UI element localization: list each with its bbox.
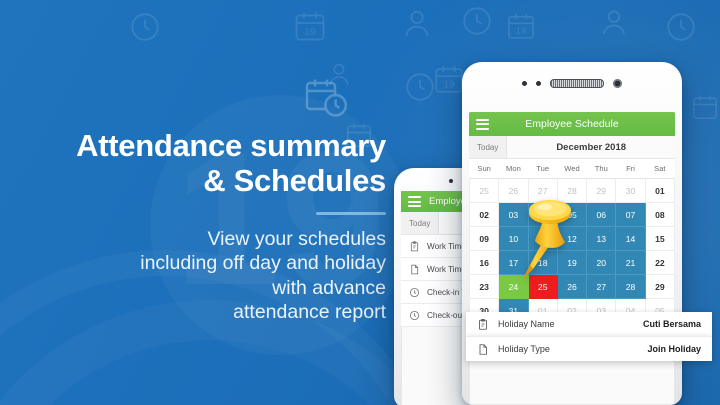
calendar-day-cell[interactable]: 14 (616, 227, 645, 251)
holiday-type-label: Holiday Type (498, 344, 550, 354)
calendar-day-cell[interactable]: 26 (557, 275, 586, 299)
calendar-day-cell[interactable]: 26 (499, 179, 528, 203)
calendar-weekday-mon: Mon (499, 159, 528, 179)
person-icon (325, 60, 353, 88)
holiday-type-row[interactable]: Holiday Type Join Holiday (466, 336, 712, 361)
phone-front-appbar: Employee Schedule (469, 112, 675, 136)
calendar-day-cell[interactable]: 12 (557, 227, 586, 251)
calendar-day-cell[interactable]: 27 (587, 275, 616, 299)
calendar-day-cell[interactable]: 06 (587, 203, 616, 227)
calendar-weekday-tue: Tue (528, 159, 557, 179)
clock-icon (460, 4, 494, 38)
person-icon (400, 6, 434, 40)
calendar-day-cell[interactable]: 24 (499, 275, 528, 299)
calendar-day-cell[interactable]: 10 (499, 227, 528, 251)
headline-line-2: & Schedules (30, 163, 386, 198)
holiday-name-row[interactable]: Holiday Name Cuti Bersama (466, 312, 712, 336)
sensor-dot-icon (522, 81, 527, 86)
calendar-day-cell[interactable]: 28 (616, 275, 645, 299)
calendar-19-icon: 19 (505, 10, 537, 42)
calendar-weekday-header: SunMonTueWedThuFriSat (470, 159, 675, 179)
calendar-day-cell[interactable]: 19 (557, 251, 586, 275)
calendar-day-cell[interactable]: 09 (470, 227, 499, 251)
month-label: December 2018 (507, 142, 675, 153)
headline-line-1: Attendance summary (30, 128, 386, 163)
holiday-name-label: Holiday Name (498, 319, 555, 329)
phone-front-subbar: Today December 2018 (469, 136, 675, 159)
calendar-weekday-sat: Sat (645, 159, 674, 179)
calendar-day-cell[interactable]: 25 (528, 275, 557, 299)
clipboard-icon (409, 241, 420, 252)
divider-rule (316, 212, 386, 215)
calendar-clock-icon (302, 74, 350, 122)
calendar-day-cell[interactable]: 29 (587, 179, 616, 203)
calendar-day-cell[interactable]: 15 (645, 227, 674, 251)
calendar-19-icon: 19 (292, 8, 328, 44)
clock-icon (664, 10, 698, 44)
phone-front-screen: Employee Schedule Today December 2018 Su… (469, 112, 675, 405)
calendar-day-cell[interactable]: 25 (470, 179, 499, 203)
clock-icon (128, 10, 162, 44)
front-camera-icon (613, 79, 622, 88)
calendar-day-cell[interactable]: 23 (470, 275, 499, 299)
calendar-week-row: 25262728293001 (470, 179, 675, 203)
calendar-day-cell[interactable]: 28 (557, 179, 586, 203)
calendar-19-icon: 19 (432, 62, 466, 96)
calendar-day-cell[interactable]: 21 (616, 251, 645, 275)
holiday-type-value: Join Holiday (647, 344, 701, 354)
calendar-day-cell[interactable]: 22 (645, 251, 674, 275)
calendar-19-icon (690, 92, 720, 122)
calendar-day-cell[interactable]: 30 (616, 179, 645, 203)
clock-icon (409, 310, 420, 321)
calendar-day-cell[interactable]: 27 (528, 179, 557, 203)
svg-text:19: 19 (304, 26, 316, 38)
document-icon (477, 343, 489, 356)
sub-line-1: View your schedules (30, 227, 386, 252)
calendar-grid: SunMonTueWedThuFriSat 252627282930010203… (469, 159, 675, 323)
promo-banner: 19 19 19 (0, 0, 720, 405)
calendar-week-row: 02030405060708 (470, 203, 675, 227)
calendar-day-cell[interactable]: 05 (557, 203, 586, 227)
clipboard-icon (477, 318, 489, 331)
calendar-day-cell[interactable]: 11 (528, 227, 557, 251)
svg-text:19: 19 (443, 80, 455, 91)
calendar-weekday-thu: Thu (587, 159, 616, 179)
calendar-day-cell[interactable]: 16 (470, 251, 499, 275)
calendar-week-row: 23242526272829 (470, 275, 675, 299)
calendar-day-cell[interactable]: 08 (645, 203, 674, 227)
subheadline: View your schedules including off day an… (30, 227, 386, 325)
calendar-day-cell[interactable]: 07 (616, 203, 645, 227)
sub-line-2: including off day and holiday (30, 251, 386, 276)
hamburger-icon[interactable] (408, 196, 421, 207)
phone-front-app-title: Employee Schedule (469, 118, 675, 130)
calendar-week-row: 09101112131415 (470, 227, 675, 251)
clock-icon (403, 70, 437, 104)
phone-front-sensors (462, 76, 682, 90)
calendar-day-cell[interactable]: 13 (587, 227, 616, 251)
calendar-weekday-fri: Fri (616, 159, 645, 179)
calendar-day-cell[interactable]: 01 (645, 179, 674, 203)
calendar-day-cell[interactable]: 04 (528, 203, 557, 227)
calendar-day-cell[interactable]: 18 (528, 251, 557, 275)
hamburger-icon[interactable] (476, 119, 489, 130)
clock-icon (409, 287, 420, 298)
headline: Attendance summary & Schedules (30, 128, 386, 199)
sensor-dot-icon (536, 81, 541, 86)
calendar-week-row: 16171819202122 (470, 251, 675, 275)
document-icon (409, 264, 420, 275)
sub-line-4: attendance report (30, 300, 386, 325)
calendar-day-cell[interactable]: 20 (587, 251, 616, 275)
calendar-day-cell[interactable]: 29 (645, 275, 674, 299)
calendar-day-cell[interactable]: 03 (499, 203, 528, 227)
calendar-weekday-sun: Sun (470, 159, 499, 179)
calendar-weekday-wed: Wed (557, 159, 586, 179)
calendar-day-cell[interactable]: 17 (499, 251, 528, 275)
sub-line-3: with advance (30, 276, 386, 301)
today-button[interactable]: Today (401, 212, 439, 234)
holiday-detail-popups: Holiday Name Cuti Bersama Holiday Type J… (466, 312, 712, 361)
marketing-copy: Attendance summary & Schedules View your… (30, 128, 386, 325)
sensor-dot-icon (449, 179, 453, 183)
today-button[interactable]: Today (469, 136, 507, 158)
calendar-day-cell[interactable]: 02 (470, 203, 499, 227)
holiday-name-value: Cuti Bersama (643, 319, 701, 329)
person-icon (598, 6, 630, 38)
speaker-grille (550, 79, 604, 88)
svg-text:19: 19 (516, 26, 526, 36)
